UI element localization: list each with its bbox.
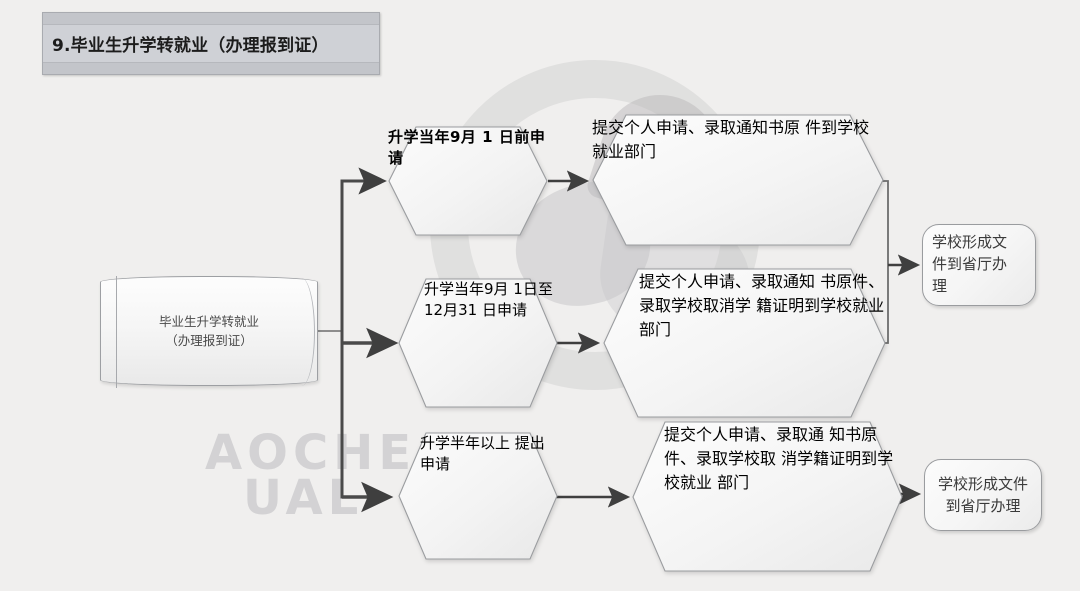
- section-title-inner-band: 9.毕业生升学转就业（办理报到证）: [43, 24, 379, 63]
- action-hexagon-1-label: 提交个人申请、录取通知书原 件到学校就业部门: [592, 114, 884, 246]
- condition-hexagon-2[interactable]: 升学当年9月 1日至12月31 日申请: [398, 278, 558, 408]
- condition-hexagon-3-label: 升学半年以上 提出申请: [398, 432, 558, 560]
- watermark-text-line2: UAL: [243, 470, 363, 526]
- action-hexagon-1[interactable]: 提交个人申请、录取通知书原 件到学校就业部门: [592, 114, 884, 246]
- condition-hexagon-1-label: 升学当年9月 1 日前申请: [388, 126, 548, 236]
- action-hexagon-2-label: 提交个人申请、录取通知 书原件、录取学校取消学 籍证明到学校就业部门: [603, 268, 886, 418]
- result-node-top[interactable]: 学校形成文 件到省厅办 理: [922, 224, 1036, 306]
- result-node-bottom[interactable]: 学校形成文件 到省厅办理: [924, 459, 1042, 531]
- start-node-label: 毕业生升学转就业 （办理报到证）: [101, 277, 317, 385]
- result-node-top-label: 学校形成文 件到省厅办 理: [923, 225, 1035, 305]
- condition-hexagon-3[interactable]: 升学半年以上 提出申请: [398, 432, 558, 560]
- section-title-banner: 9.毕业生升学转就业（办理报到证）: [42, 12, 380, 75]
- page-title: 9.毕业生升学转就业（办理报到证）: [43, 31, 329, 56]
- diagram-canvas: AOCHE UAL 9.毕业生升学转就业（办理报到证）: [0, 0, 1080, 591]
- result-node-bottom-label: 学校形成文件 到省厅办理: [925, 460, 1041, 530]
- watermark-text-line1: AOCHE: [205, 425, 416, 481]
- condition-hexagon-1[interactable]: 升学当年9月 1 日前申请: [388, 126, 548, 236]
- action-hexagon-3[interactable]: 提交个人申请、录取通 知书原件、录取学校取 消学籍证明到学校就业 部门: [632, 421, 903, 572]
- action-hexagon-3-label: 提交个人申请、录取通 知书原件、录取学校取 消学籍证明到学校就业 部门: [632, 421, 903, 572]
- condition-hexagon-2-label: 升学当年9月 1日至12月31 日申请: [398, 278, 558, 408]
- action-hexagon-2[interactable]: 提交个人申请、录取通知 书原件、录取学校取消学 籍证明到学校就业部门: [603, 268, 886, 418]
- start-node-cylinder[interactable]: 毕业生升学转就业 （办理报到证）: [100, 276, 318, 386]
